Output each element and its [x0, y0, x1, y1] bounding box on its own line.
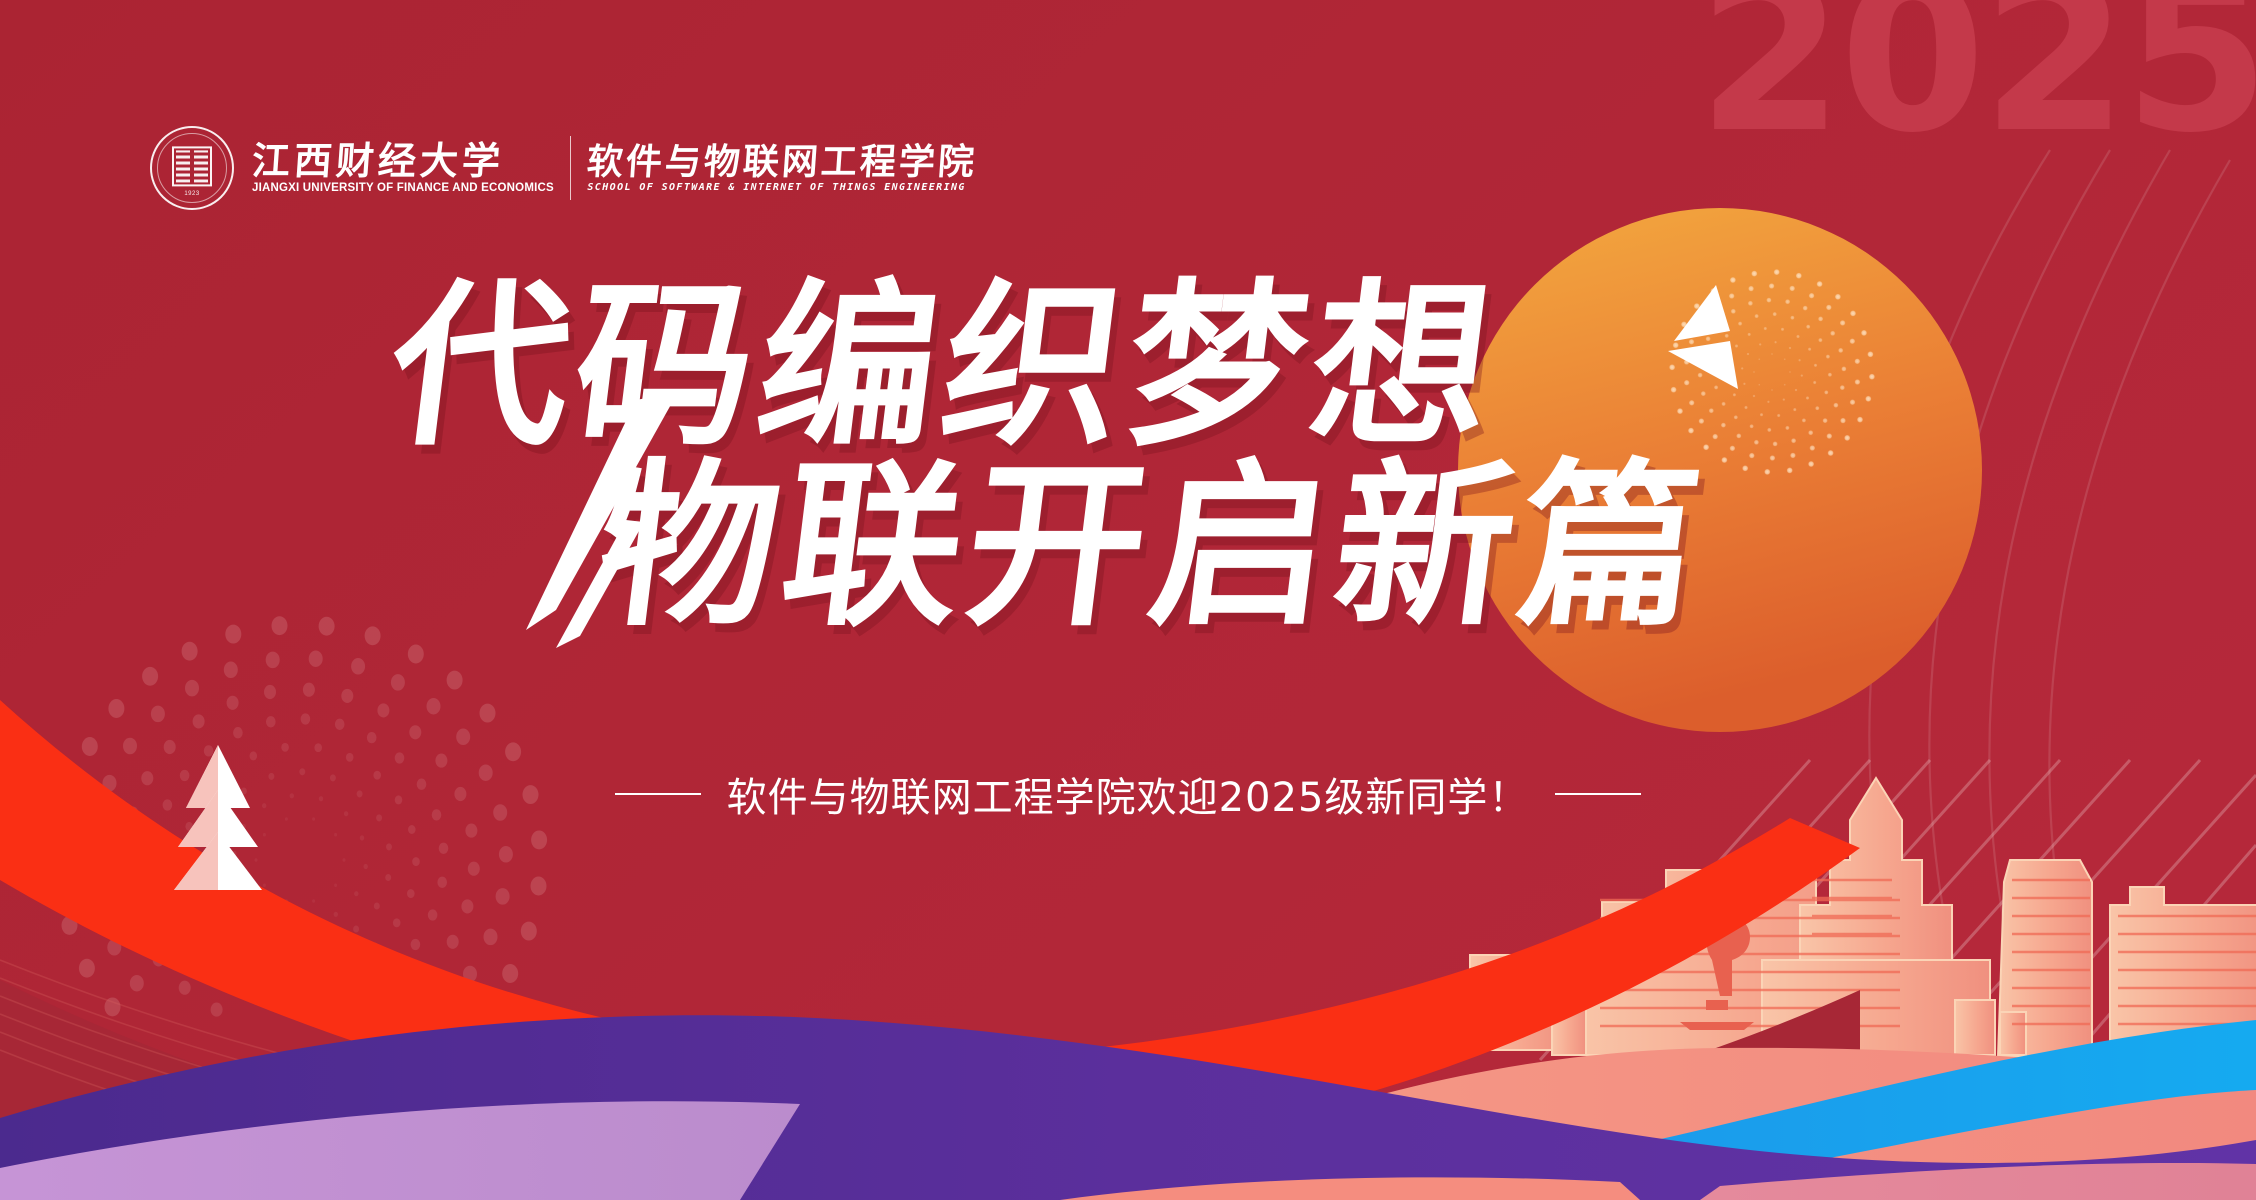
- slash-flourish-icon: [430, 392, 730, 652]
- university-seal-icon: 1923: [150, 126, 234, 210]
- school-name-cn: 软件与物联网工程学院: [586, 144, 979, 180]
- poster-canvas: 2025 1923 江西财经大学 JIANGXI UNIVERSITY OF F…: [0, 0, 2256, 1200]
- university-name-cn: 江西财经大学: [251, 142, 556, 180]
- school-name-en: SCHOOL OF SOFTWARE & INTERNET OF THINGS …: [587, 183, 977, 193]
- school-brand: 软件与物联网工程学院 SCHOOL OF SOFTWARE & INTERNET…: [587, 144, 977, 193]
- university-brand: 江西财经大学 JIANGXI UNIVERSITY OF FINANCE AND…: [252, 142, 554, 195]
- seal-year: 1923: [184, 191, 199, 197]
- year-watermark: 2025: [1698, 0, 2256, 179]
- university-name-en: JIANGXI UNIVERSITY OF FINANCE AND ECONOM…: [252, 183, 554, 195]
- seal-script-tablet: [172, 146, 212, 186]
- logo-lockup: 1923 江西财经大学 JIANGXI UNIVERSITY OF FINANC…: [150, 118, 977, 218]
- logo-divider: [570, 136, 572, 200]
- triangle-accent-icon: [1612, 285, 1742, 405]
